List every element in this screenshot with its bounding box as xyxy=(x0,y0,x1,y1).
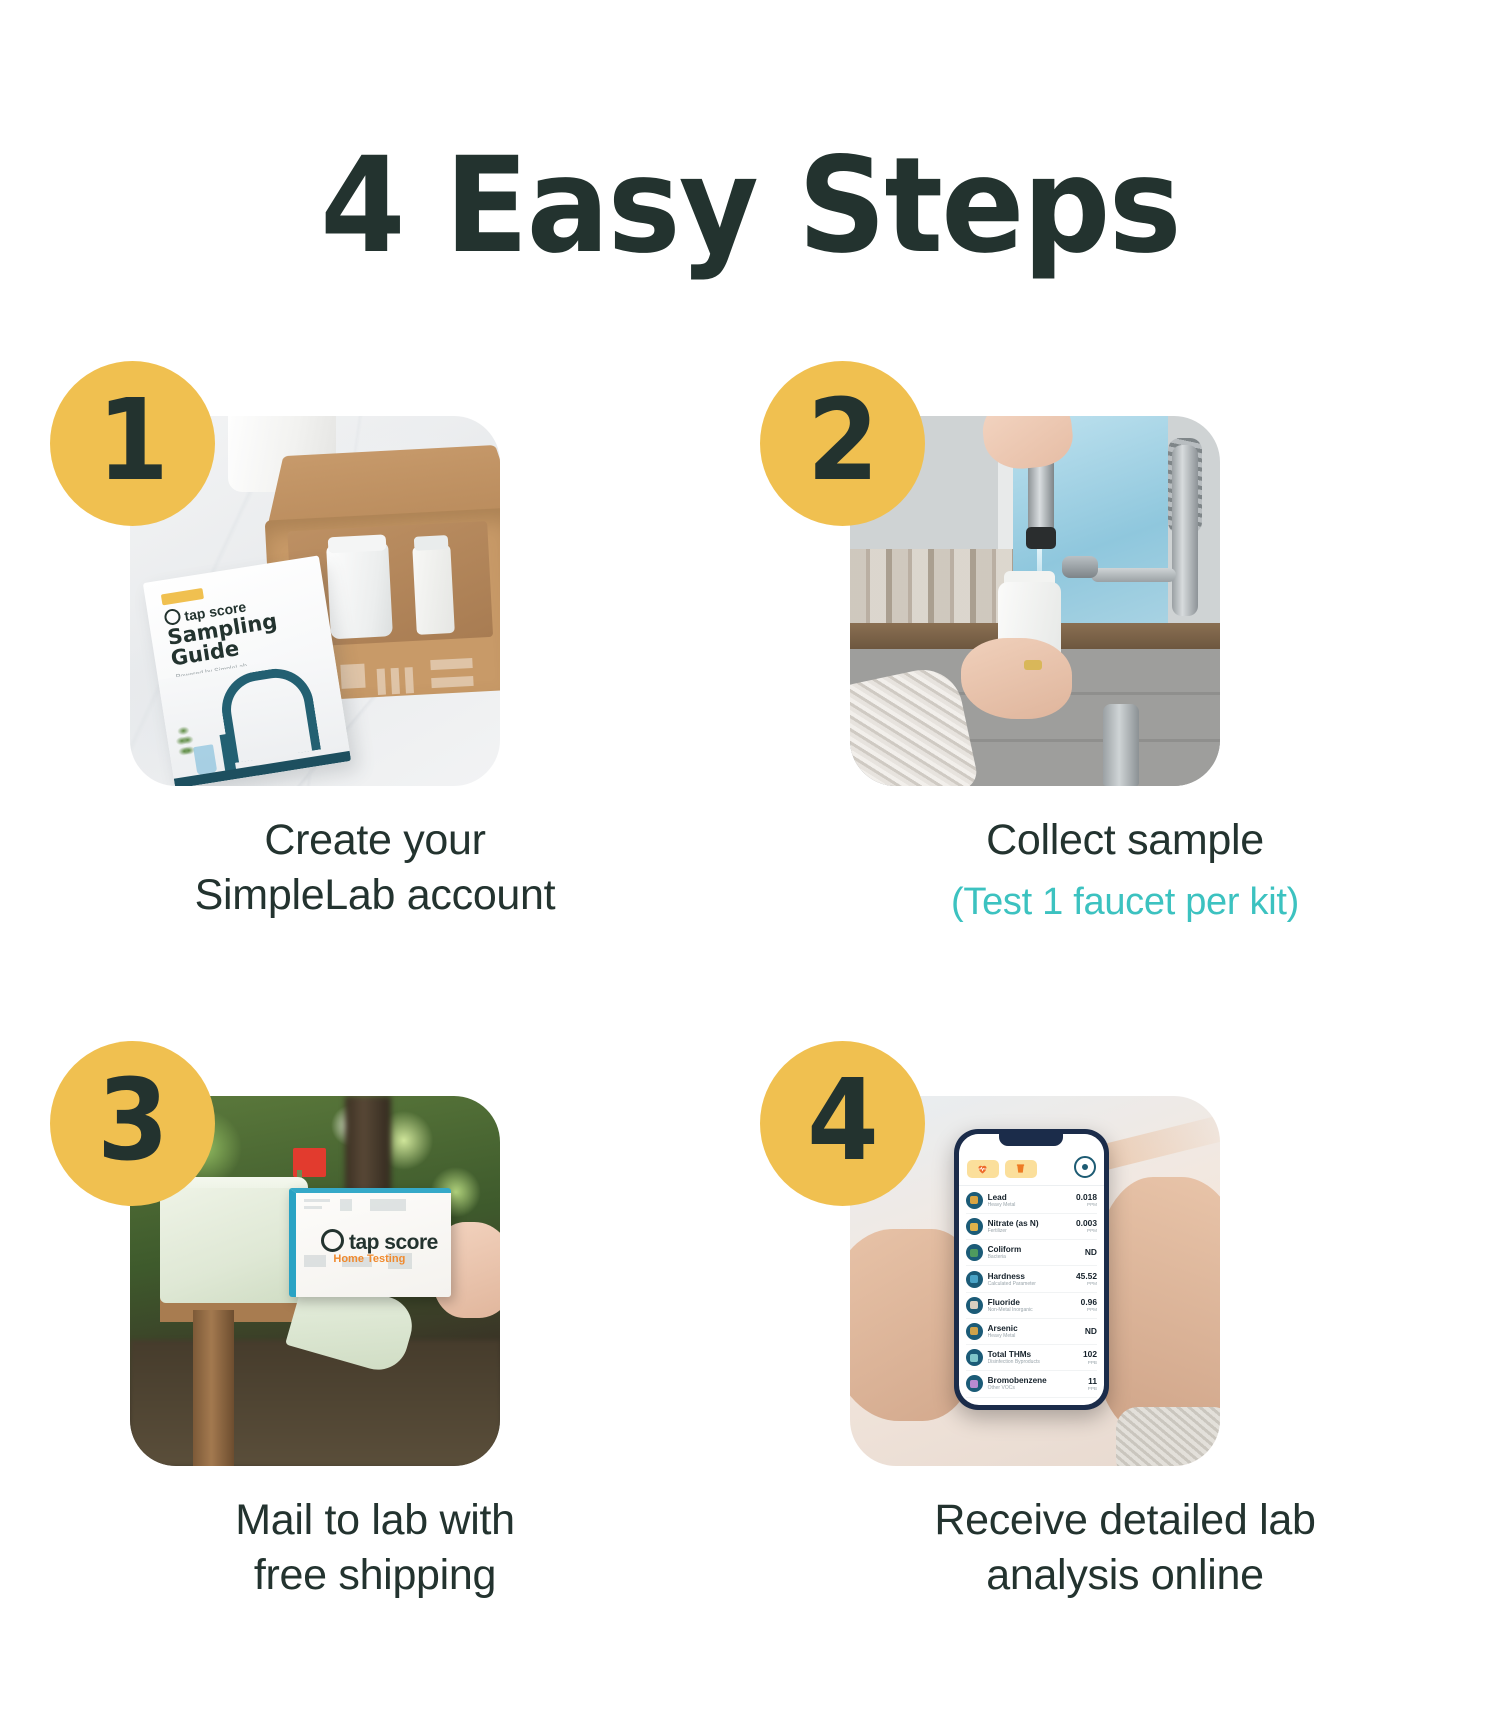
step-1-caption: Create your SimpleLab account xyxy=(0,813,750,923)
home-testing-label: Home Testing xyxy=(333,1253,405,1265)
result-measurement: ND xyxy=(1085,1327,1097,1336)
step-4-caption: Receive detailed lab analysis online xyxy=(750,1493,1500,1603)
icon-glyph xyxy=(970,1354,978,1362)
step-4-number: 4 xyxy=(807,1065,879,1177)
result-category: Disinfection Byproducts xyxy=(988,1359,1078,1365)
sample-bottle-cap xyxy=(328,534,387,553)
icon-glyph xyxy=(970,1249,978,1257)
result-labels: LeadHeavy Metal xyxy=(988,1193,1071,1208)
icon-glyph xyxy=(970,1275,978,1283)
result-row[interactable]: Total THMsDisinfection Byproducts102PPB xyxy=(966,1345,1097,1371)
result-unit: PPB xyxy=(1088,1386,1097,1392)
heavy-metal-icon xyxy=(966,1323,983,1340)
icon-glyph xyxy=(970,1380,978,1388)
icon-glyph xyxy=(970,1301,978,1309)
health-filter-button[interactable] xyxy=(967,1160,999,1178)
step-2: 2 Collect sample (Test 1 faucet per kit) xyxy=(750,361,1500,1041)
result-category: Other VOCs xyxy=(988,1385,1083,1391)
sample-bottle xyxy=(326,542,393,639)
step-4-caption-line1: Receive detailed lab xyxy=(934,1496,1315,1544)
step-1-badge: 1 xyxy=(50,361,215,526)
mailbox-post xyxy=(193,1310,234,1465)
lower-hand-holding-bottle xyxy=(961,638,1072,719)
steps-grid: tap score Sampling Guide Powered by Simp… xyxy=(0,361,1500,1721)
step-1-caption-line1: Create your xyxy=(264,816,485,864)
result-name: Lead xyxy=(988,1193,1071,1202)
mailbox-body xyxy=(160,1188,308,1303)
result-name: Nitrate (as N) xyxy=(988,1219,1071,1228)
step-3-caption-line2: free shipping xyxy=(254,1551,496,1599)
result-category: Fertilizer xyxy=(988,1228,1071,1234)
tap-score-logo: tap score xyxy=(321,1229,438,1255)
step-3: tap score Home Testing 3 Mail to lab wit… xyxy=(0,1041,750,1721)
beaker-icon xyxy=(1015,1163,1026,1175)
result-value: 0.003 xyxy=(1076,1219,1097,1228)
step-3-badge: 3 xyxy=(50,1041,215,1206)
calculated-icon xyxy=(966,1271,983,1288)
step-2-badge: 2 xyxy=(760,361,925,526)
sample-vial xyxy=(412,545,455,635)
icon-glyph xyxy=(970,1327,978,1335)
view-toggle-button[interactable] xyxy=(1074,1156,1096,1178)
sampling-guide-booklet: tap score Sampling Guide Powered by Simp… xyxy=(143,555,351,786)
result-value: 0.96 xyxy=(1081,1298,1097,1307)
backsplash-mosaic-tile xyxy=(850,549,1013,630)
faucet-base xyxy=(1103,704,1139,785)
ground xyxy=(130,1340,500,1466)
icon-glyph xyxy=(970,1223,978,1231)
result-unit: PPM xyxy=(1076,1202,1097,1208)
tap-score-drop-icon xyxy=(321,1229,344,1252)
finger-ring xyxy=(1024,660,1042,670)
byproducts-icon xyxy=(966,1349,983,1366)
result-category: Bacteria xyxy=(988,1254,1080,1260)
result-value: 0.018 xyxy=(1076,1193,1097,1202)
sweater-sleeve xyxy=(1116,1407,1220,1466)
read-first-tag xyxy=(161,588,204,605)
result-measurement: 0.018PPM xyxy=(1076,1193,1097,1208)
result-labels: Nitrate (as N)Fertilizer xyxy=(988,1219,1071,1234)
right-hand xyxy=(1094,1177,1220,1436)
result-value: 11 xyxy=(1088,1377,1097,1386)
result-labels: BromobenzeneOther VOCs xyxy=(988,1376,1083,1391)
result-measurement: 102PPB xyxy=(1083,1350,1097,1365)
result-category: Non-Metal Inorganic xyxy=(988,1307,1076,1313)
step-4-caption-line2: analysis online xyxy=(986,1551,1264,1599)
icon-glyph xyxy=(970,1196,978,1204)
result-measurement: 0.003PPM xyxy=(1076,1219,1097,1234)
result-row[interactable]: ColiformBacteriaND xyxy=(966,1240,1097,1266)
result-unit: PPM xyxy=(1076,1228,1097,1234)
result-unit: PPM xyxy=(1076,1281,1097,1287)
step-1: tap score Sampling Guide Powered by Simp… xyxy=(0,361,750,1041)
result-labels: Total THMsDisinfection Byproducts xyxy=(988,1350,1078,1365)
step-4: LeadHeavy Metal0.018PPMNitrate (as N)Fer… xyxy=(750,1041,1500,1721)
fertilizer-icon xyxy=(966,1218,983,1235)
tap-score-package: tap score Home Testing xyxy=(289,1188,451,1297)
result-row[interactable]: HardnessCalculated Parameter45.52PPM xyxy=(966,1266,1097,1292)
result-measurement: 11PPB xyxy=(1088,1377,1097,1392)
sample-vial-cap xyxy=(414,535,449,551)
sprayer-nozzle-tip xyxy=(1026,527,1056,549)
result-name: Coliform xyxy=(988,1245,1080,1254)
result-row[interactable]: FluorideNon-Metal Inorganic0.96PPM xyxy=(966,1293,1097,1319)
step-1-caption-line2: SimpleLab account xyxy=(195,871,556,919)
result-unit: PPM xyxy=(1081,1307,1097,1313)
heavy-metal-icon xyxy=(966,1192,983,1209)
step-2-subtext: (Test 1 faucet per kit) xyxy=(750,878,1500,927)
phone-screen[interactable]: LeadHeavy Metal0.018PPMNitrate (as N)Fer… xyxy=(959,1134,1104,1405)
step-2-caption-line1: Collect sample xyxy=(986,816,1264,864)
eye-icon xyxy=(1082,1164,1088,1170)
result-category: Heavy Metal xyxy=(988,1333,1080,1339)
page-title: 4 Easy Steps xyxy=(53,88,1448,272)
result-name: Fluoride xyxy=(988,1298,1076,1307)
result-value: 102 xyxy=(1083,1350,1097,1359)
result-value: ND xyxy=(1085,1248,1097,1257)
result-row[interactable]: Nitrate (as N)Fertilizer0.003PPM xyxy=(966,1214,1097,1240)
result-labels: HardnessCalculated Parameter xyxy=(988,1272,1071,1287)
result-name: Total THMs xyxy=(988,1350,1078,1359)
result-name: Arsenic xyxy=(988,1324,1080,1333)
result-row[interactable]: ArsenicHeavy MetalND xyxy=(966,1319,1097,1345)
step-3-caption-line1: Mail to lab with xyxy=(235,1496,515,1544)
result-name: Bromobenzene xyxy=(988,1376,1083,1385)
result-row[interactable]: LeadHeavy Metal0.018PPM xyxy=(966,1188,1097,1214)
heart-pulse-icon xyxy=(976,1163,989,1175)
step-3-number: 3 xyxy=(97,1065,169,1177)
result-unit: PPB xyxy=(1083,1360,1097,1366)
illustration-water-glass-icon xyxy=(193,744,217,775)
faucet-spout-head xyxy=(1062,556,1098,578)
bacteria-icon xyxy=(966,1244,983,1261)
result-row[interactable]: BromobenzeneOther VOCs11PPB xyxy=(966,1371,1097,1397)
step-1-number: 1 xyxy=(97,385,169,497)
sample-filter-button[interactable] xyxy=(1005,1160,1037,1178)
faucet-spout-arm xyxy=(1091,568,1176,582)
inorganic-icon xyxy=(966,1297,983,1314)
vocs-icon xyxy=(966,1375,983,1392)
result-value: ND xyxy=(1085,1327,1097,1336)
result-measurement: 45.52PPM xyxy=(1076,1272,1097,1287)
result-name: Hardness xyxy=(988,1272,1071,1281)
result-labels: ArsenicHeavy Metal xyxy=(988,1324,1080,1339)
result-category: Heavy Metal xyxy=(988,1202,1071,1208)
smartphone: LeadHeavy Metal0.018PPMNitrate (as N)Fer… xyxy=(954,1129,1109,1410)
results-list[interactable]: LeadHeavy Metal0.018PPMNitrate (as N)Fer… xyxy=(959,1186,1104,1406)
result-measurement: 0.96PPM xyxy=(1081,1298,1097,1313)
step-2-number: 2 xyxy=(807,385,879,497)
result-category: Calculated Parameter xyxy=(988,1281,1071,1287)
step-3-caption: Mail to lab with free shipping xyxy=(0,1493,750,1603)
result-labels: ColiformBacteria xyxy=(988,1245,1080,1260)
result-value: 45.52 xyxy=(1076,1272,1097,1281)
result-measurement: ND xyxy=(1085,1248,1097,1257)
result-labels: FluorideNon-Metal Inorganic xyxy=(988,1298,1076,1313)
step-4-badge: 4 xyxy=(760,1041,925,1206)
step-2-caption: Collect sample (Test 1 faucet per kit) xyxy=(750,813,1500,927)
faucet-body xyxy=(1172,445,1198,615)
phone-notch xyxy=(999,1134,1063,1146)
